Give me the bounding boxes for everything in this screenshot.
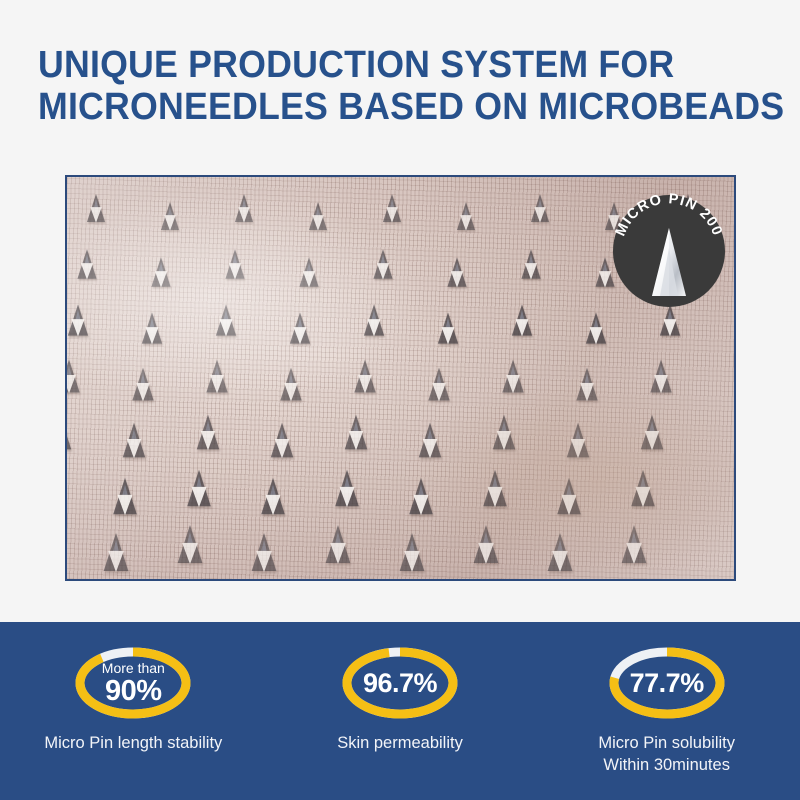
microneedle-tip [531,194,549,222]
microneedle-tip [206,360,227,393]
microneedle-tip [280,368,301,401]
micro-pin-200-badge: MICRO PIN 200 [610,192,728,310]
microneedle-tip [271,423,293,458]
stats-band: More than90%Micro Pin length stability96… [0,622,800,800]
microneedle-tip [409,478,433,514]
gauge-value: 77.7% [630,670,704,697]
microneedle-tip [225,249,244,279]
microneedle-tip [576,368,597,401]
microneedle-tip [87,194,105,222]
microneedle-tip [178,525,203,563]
microneedle-tip [483,470,507,506]
microneedle-tip [493,415,515,450]
stat-micro-pin-length-stability: More than90%Micro Pin length stability [0,622,267,800]
microneedle-tip [77,249,96,279]
microneedle-tip [151,257,170,287]
microneedle-tip [512,304,532,335]
microneedle-tip [309,202,327,230]
microneedle-tip [104,533,129,571]
gauge-text-skin-permeability: 96.7% [339,646,461,720]
microneedle-tip [567,423,589,458]
microneedle-tip [299,257,318,287]
microneedle-tip [161,202,179,230]
gauge-micro-pin-solubility: 77.7% [606,646,728,720]
microneedle-tip [290,312,310,343]
microneedle-tip [631,470,655,506]
microneedle-tip [586,312,606,343]
microneedle-tip [521,249,540,279]
microneedle-tip [132,368,153,401]
microneedle-tip [68,304,88,335]
stats-row: More than90%Micro Pin length stability96… [0,622,800,800]
microneedle-tip [252,533,277,571]
gauge-value: 96.7% [363,670,437,697]
microneedle-tip [235,194,253,222]
microneedle-tip [650,360,671,393]
microneedle-tip [326,525,351,563]
gauge-value: 90% [105,677,162,706]
microneedle-tip [261,478,285,514]
infographic-page: UNIQUE PRODUCTION SYSTEM FOR MICRONEEDLE… [0,0,800,800]
microneedle-tip [502,360,523,393]
stat-caption-line: Micro Pin length stability [44,732,222,754]
microneedle-tip [419,423,441,458]
stat-caption-line: Micro Pin solubility [598,732,735,754]
microneedle-tip [216,304,236,335]
stat-caption: Micro Pin solubilityWithin 30minutes [598,732,735,776]
title-line-1: UNIQUE PRODUCTION SYSTEM FOR [38,44,743,86]
microneedle-tip [548,533,573,571]
gauge-prefix: More than [102,661,165,675]
microneedle-tip [474,525,499,563]
microneedle-tip [438,312,458,343]
microneedle-tip [345,415,367,450]
stat-caption-line: Skin permeability [337,732,463,754]
microneedle-tip [123,423,145,458]
stat-caption: Micro Pin length stability [44,732,222,754]
stat-micro-pin-solubility: 77.7%Micro Pin solubilityWithin 30minute… [533,622,800,800]
microneedle-tip [447,257,466,287]
gauge-text-micro-pin-length-stability: More than90% [72,646,194,720]
title-line-2: MICRONEEDLES BASED ON MICROBEADS [38,86,743,128]
microneedle-tip [142,312,162,343]
microneedle-tip [113,478,137,514]
gauge-skin-permeability: 96.7% [339,646,461,720]
stat-skin-permeability: 96.7%Skin permeability [267,622,534,800]
microneedle-tip [335,470,359,506]
microneedle-tip [354,360,375,393]
microneedle-tip [428,368,449,401]
gauge-micro-pin-length-stability: More than90% [72,646,194,720]
microneedle-tip [373,249,392,279]
microneedle-tip [197,415,219,450]
microneedle-tip [364,304,384,335]
stat-caption: Skin permeability [337,732,463,754]
microneedle-tip [65,415,71,450]
microneedle-tip [457,202,475,230]
gauge-text-micro-pin-solubility: 77.7% [606,646,728,720]
page-title: UNIQUE PRODUCTION SYSTEM FOR MICRONEEDLE… [38,44,788,128]
microneedle-tip [641,415,663,450]
microneedle-tip [383,194,401,222]
stat-caption-line: Within 30minutes [598,754,735,776]
microneedle-tip [622,525,647,563]
microneedle-tip [65,360,80,393]
microneedle-tip [400,533,425,571]
microneedle-tip [187,470,211,506]
microneedle-tip [557,478,581,514]
